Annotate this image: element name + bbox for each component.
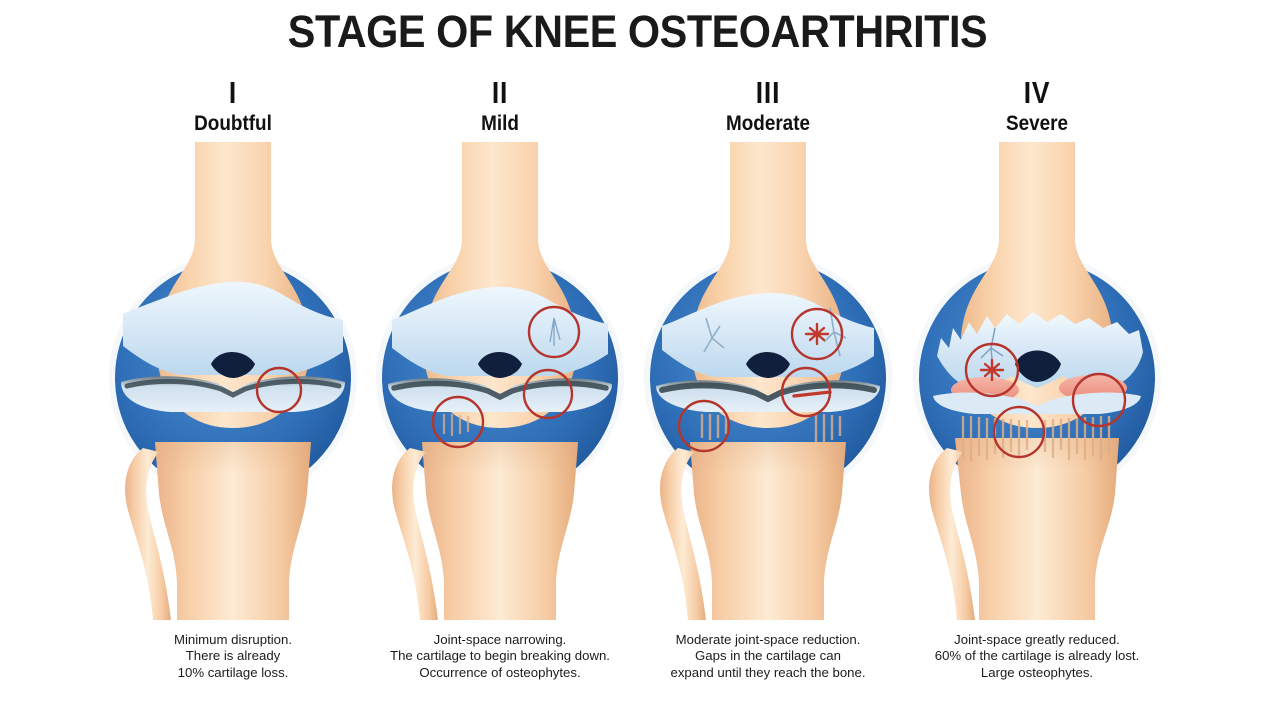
knee-illustration-stage-2 [366, 142, 634, 620]
knee-illustration-stage-3 [634, 142, 902, 620]
stage-panel-4: IV Severe [903, 76, 1171, 676]
stage-roman-2: II [386, 76, 614, 110]
caption-line: Moderate joint-space reduction. [628, 632, 908, 648]
stage-roman-4: IV [923, 76, 1151, 110]
stage-caption-2: Joint-space narrowing. The cartilage to … [360, 632, 640, 681]
caption-line: The cartilage to begin breaking down. [360, 648, 640, 664]
stage-caption-1: Minimum disruption. There is already 10%… [93, 632, 373, 681]
stage-caption-4: Joint-space greatly reduced. 60% of the … [897, 632, 1177, 681]
tibia-plateau-shade [422, 442, 578, 474]
stage-panel-1: I Doubtful [99, 76, 367, 676]
caption-line: There is already [93, 648, 373, 664]
stage-name-2: Mild [379, 111, 620, 137]
stage-caption-3: Moderate joint-space reduction. Gaps in … [628, 632, 908, 681]
caption-line: Occurrence of osteophytes. [360, 665, 640, 681]
stage-name-4: Severe [916, 111, 1157, 137]
stage-name-1: Doubtful [112, 111, 353, 137]
stage-roman-1: I [119, 76, 347, 110]
stage-panel-3: III Moderate [634, 76, 902, 676]
caption-line: Gaps in the cartilage can [628, 648, 908, 664]
caption-line: expand until they reach the bone. [628, 665, 908, 681]
caption-line: 10% cartilage loss. [93, 665, 373, 681]
stage-roman-3: III [654, 76, 882, 110]
knee-illustration-stage-1 [99, 142, 367, 620]
knee-illustration-stage-4 [903, 142, 1171, 620]
stage-name-3: Moderate [647, 111, 888, 137]
caption-line: Joint-space greatly reduced. [897, 632, 1177, 648]
caption-line: Minimum disruption. [93, 632, 373, 648]
caption-line: 60% of the cartilage is already lost. [897, 648, 1177, 664]
caption-line: Joint-space narrowing. [360, 632, 640, 648]
knee-osteoarthritis-infographic: STAGE OF KNEE OSTEOARTHRITIS I Doubtful [0, 0, 1275, 715]
page-title: STAGE OF KNEE OSTEOARTHRITIS [51, 6, 1224, 58]
caption-line: Large osteophytes. [897, 665, 1177, 681]
stage-panel-2: II Mild [366, 76, 634, 676]
tibia-plateau-shade [155, 442, 311, 474]
tibia-plateau-shade [690, 442, 846, 474]
